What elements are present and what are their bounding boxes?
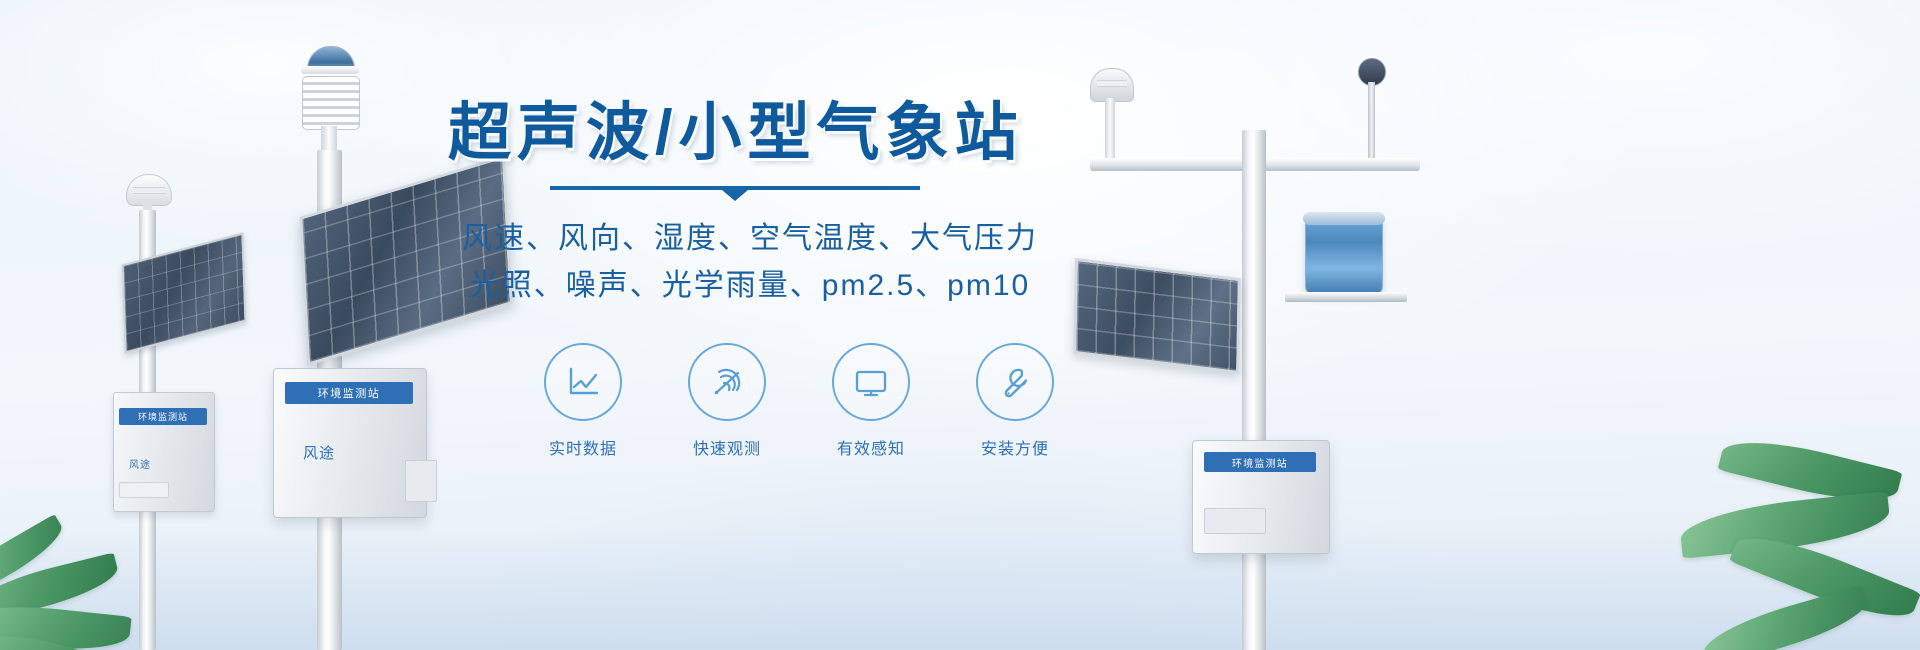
page-title: 超声波/小型气象站 — [448, 100, 1060, 166]
sensor-head-icon — [1090, 68, 1134, 102]
feature-label: 快速观测 — [693, 435, 761, 459]
cabinet-vent — [119, 482, 169, 498]
cabinet-vent — [405, 460, 437, 502]
brand-logo: 风途 — [129, 456, 151, 471]
feature-list: 实时数据 快速观测 — [540, 343, 1060, 459]
product-banner: 环境监测站 风途 环境监测站 风途 环境监测站 — [0, 0, 1920, 650]
title-divider — [550, 186, 920, 190]
subtitle-line-1: 风速、风向、湿度、空气温度、大气压力 — [440, 216, 1060, 263]
feature-item-fast-observation[interactable]: 快速观测 — [684, 343, 770, 459]
anemometer-stem — [1368, 82, 1375, 160]
radiation-shield — [302, 76, 360, 130]
subtitle-block: 风速、风向、湿度、空气温度、大气压力 光照、噪声、光学雨量、pm2.5、pm10 — [440, 216, 1060, 309]
solar-panel — [1073, 258, 1241, 374]
feature-item-realtime-data[interactable]: 实时数据 — [540, 343, 626, 459]
feature-item-easy-installation[interactable]: 安装方便 — [972, 343, 1058, 459]
feature-item-effective-sensing[interactable]: 有效感知 — [828, 343, 914, 459]
feature-label: 安装方便 — [981, 435, 1049, 459]
cabinet-label: 环境监测站 — [285, 382, 413, 404]
cabinet-vent — [1204, 508, 1266, 534]
subtitle-line-2: 光照、噪声、光学雨量、pm2.5、pm10 — [440, 263, 1060, 310]
monitor-screen-icon — [832, 343, 910, 421]
feature-label: 实时数据 — [549, 435, 617, 459]
wrench-tool-icon — [976, 343, 1054, 421]
cabinet-label: 环境监测站 — [1204, 452, 1316, 472]
banner-content: 超声波/小型气象站 风速、风向、湿度、空气温度、大气压力 光照、噪声、光学雨量、… — [440, 100, 1060, 459]
cabinet-label: 环境监测站 — [119, 408, 207, 425]
line-chart-icon — [544, 343, 622, 421]
foliage-right — [1660, 410, 1920, 650]
mast-pole — [1242, 130, 1266, 650]
rain-gauge-icon — [1305, 218, 1383, 296]
mount-shelf — [1285, 292, 1407, 302]
brand-logo: 风途 — [303, 442, 335, 463]
feature-label: 有效感知 — [837, 435, 905, 459]
weather-station-left: 环境监测站 风途 — [95, 170, 245, 650]
sensor-plate — [301, 66, 359, 74]
weather-station-right: 环境监测站 — [1060, 40, 1420, 650]
radar-signal-icon — [688, 343, 766, 421]
sensor-stem — [1105, 98, 1115, 160]
